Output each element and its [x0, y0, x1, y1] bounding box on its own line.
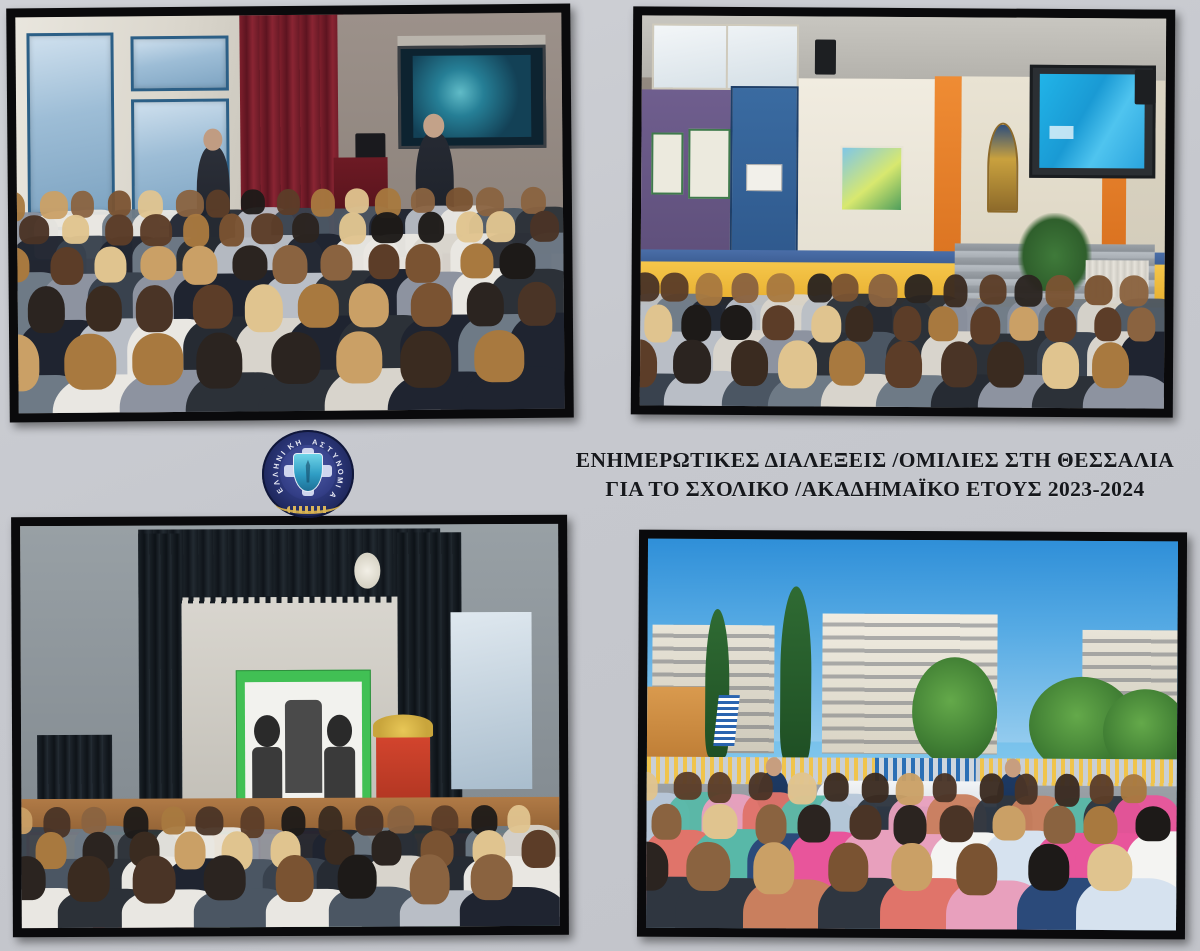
floor	[17, 242, 563, 286]
audience-person	[325, 368, 441, 413]
audience-person	[962, 333, 1038, 400]
podium	[333, 157, 388, 245]
window	[26, 32, 115, 215]
presenter-officer	[415, 132, 454, 251]
audience-person	[183, 316, 282, 404]
presenter-officer	[996, 774, 1028, 852]
audience-person	[15, 375, 98, 414]
audience-person	[338, 315, 441, 403]
audience-person-head	[970, 306, 1001, 344]
audience-person	[712, 330, 791, 397]
audience-person	[1038, 299, 1110, 354]
audience-person-head	[1092, 342, 1129, 388]
door-sign	[746, 164, 783, 192]
audience-person-head	[1094, 307, 1122, 341]
audience-person	[1037, 332, 1116, 399]
audience-person-head	[681, 304, 711, 341]
audience-person-head	[1045, 306, 1077, 342]
window-mullion	[726, 24, 800, 91]
photo-bottom-left-image	[20, 524, 560, 928]
audience-person	[664, 371, 758, 409]
audience-person	[508, 313, 564, 401]
audience-person-head	[400, 330, 451, 388]
photo-bottom-right	[637, 530, 1187, 940]
police-patrol-car	[816, 781, 1018, 837]
audience-person-head	[467, 282, 504, 326]
audience-person	[235, 318, 332, 406]
notice-board	[652, 132, 684, 195]
window	[451, 612, 532, 789]
audience-person	[753, 330, 835, 397]
audience-person-head	[518, 282, 556, 326]
audience-person-head	[778, 340, 817, 389]
audience-person-head	[640, 339, 657, 387]
projection-slide	[236, 669, 371, 818]
photo-bottom-left	[11, 515, 569, 937]
potted-plant	[1018, 213, 1092, 291]
tree	[912, 657, 997, 766]
stage-curtain	[239, 15, 345, 261]
religious-icon	[987, 123, 1019, 213]
audience-person-head	[673, 339, 710, 383]
audience-person-head	[297, 284, 338, 328]
audience-person	[76, 318, 169, 406]
audience-person	[838, 331, 908, 398]
audience-person-head	[15, 334, 39, 391]
cypress-tree	[779, 586, 812, 761]
audience-person	[1002, 331, 1074, 398]
slide-cartoon	[245, 682, 362, 806]
audience-person-head	[132, 333, 183, 385]
presenter-officer	[197, 146, 231, 253]
audience-person	[688, 297, 757, 352]
poster-canvas: ΕΛΛΗΝΙΚΗ ΑΣΤΥΝΟΜΙΑ ΕΝΗΜΕΡΩΤΙΚΕΣ ΔΙΑΛΕΞΕΙ…	[0, 0, 1200, 951]
audience-person	[461, 367, 564, 414]
loudspeaker	[815, 40, 836, 75]
audience-person-head	[893, 306, 921, 342]
audience-person	[886, 331, 956, 398]
audience-person	[119, 369, 247, 413]
audience-person	[640, 374, 703, 409]
photo-top-left-image	[15, 13, 564, 414]
audience-person	[640, 332, 707, 399]
photo-bottom-right-image	[646, 539, 1178, 931]
audience-person-head	[940, 341, 977, 387]
slide-content	[1039, 74, 1145, 169]
audience-person	[938, 298, 997, 353]
audience-person-head	[811, 305, 842, 343]
notice-board	[688, 129, 730, 199]
audience-person-head	[762, 305, 795, 341]
presenter-officer	[758, 773, 790, 851]
audience-person	[721, 373, 814, 408]
audience-person-head	[846, 305, 874, 342]
audience-person	[861, 298, 934, 353]
stage-pelmet	[139, 528, 441, 598]
window	[130, 35, 229, 91]
radiator	[1086, 260, 1149, 303]
audience-person	[1082, 375, 1166, 409]
audience-person-head	[644, 304, 672, 343]
stage-curtain	[139, 534, 183, 808]
caption-line-2: ΓΙΑ ΤΟ ΣΧΟΛΙΚΟ /ΑΚΑΔΗΜΑΪΚΟ ΕΤΟΥΣ 2023-20…	[575, 475, 1175, 504]
audience-person	[127, 318, 220, 406]
poster-caption: ΕΝΗΜΕΡΩΤΙΚΕΣ ΔΙΑΛΕΞΕΙΣ /ΟΜΙΛΙΕΣ ΣΤΗ ΘΕΣΣ…	[575, 446, 1175, 503]
hellenic-police-emblem: ΕΛΛΗΝΙΚΗ ΑΣΤΥΝΟΜΙΑ	[262, 430, 354, 518]
projection-screen	[398, 44, 546, 148]
audience-person	[820, 373, 909, 409]
audience-person-head	[1127, 307, 1156, 341]
audience-person	[1087, 331, 1156, 398]
audience-person	[931, 374, 1022, 408]
audience-person	[400, 314, 505, 402]
audience-person	[458, 313, 551, 401]
audience-person	[387, 371, 515, 413]
wall-poster	[840, 145, 903, 212]
audience-person-head	[721, 304, 753, 340]
photo-top-right-image	[640, 15, 1166, 408]
audience-person-head	[64, 333, 116, 390]
audience-person	[876, 375, 969, 409]
audience-person	[803, 332, 880, 399]
audience-person-head	[731, 340, 768, 387]
audience-person-head	[196, 332, 242, 389]
audience-person-head	[474, 330, 525, 383]
photo-top-left	[6, 4, 574, 423]
hall-floor	[21, 829, 559, 928]
audience-person	[1032, 375, 1127, 408]
audience-person	[768, 375, 865, 409]
photo-top-right	[631, 6, 1175, 417]
audience-person	[287, 315, 390, 403]
audience-person	[259, 369, 384, 414]
audience-person	[977, 374, 1070, 408]
audience-person-head	[336, 331, 383, 383]
audience-person-head	[1010, 306, 1039, 340]
audience-person	[52, 374, 181, 414]
audience-person-head	[1042, 342, 1080, 389]
audience-person	[18, 320, 113, 408]
audience-person	[673, 331, 749, 398]
audience-person	[1120, 331, 1167, 398]
audience-person	[185, 372, 299, 413]
audience-person-head	[829, 340, 865, 386]
audience-person-head	[987, 341, 1024, 387]
audience-person-head	[271, 332, 321, 385]
audience-person-head	[410, 283, 452, 327]
audience-person-head	[929, 306, 959, 341]
audience-person-head	[348, 283, 389, 327]
audience-person-head	[885, 341, 922, 389]
caption-line-1: ΕΝΗΜΕΡΩΤΙΚΕΣ ΔΙΑΛΕΞΕΙΣ /ΟΜΙΛΙΕΣ ΣΤΗ ΘΕΣΣ…	[575, 446, 1175, 475]
loudspeaker	[1134, 69, 1155, 104]
audience-person-head	[244, 284, 283, 332]
audience-person	[921, 331, 996, 398]
